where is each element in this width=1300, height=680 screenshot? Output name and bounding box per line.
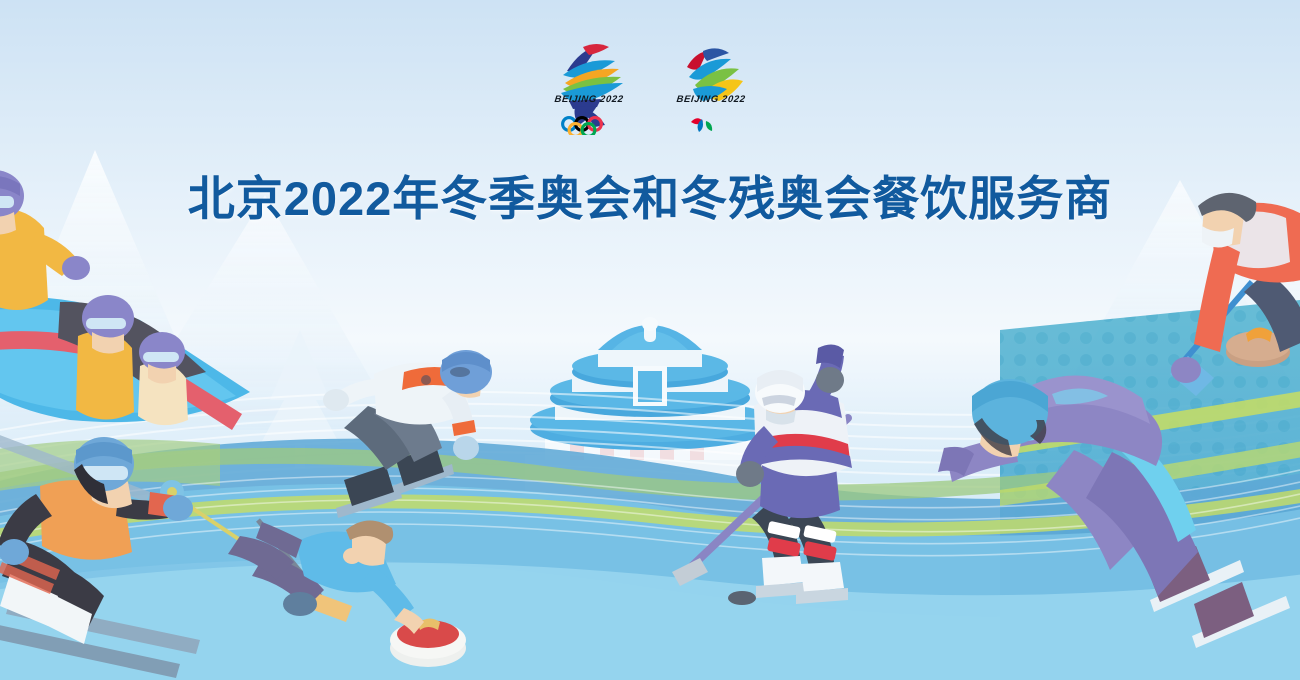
bobsleigh-athlete-middle — [76, 295, 134, 420]
olympic-wordmark: BEIJING 2022 — [538, 94, 639, 105]
olympic-banner: BEIJING 2022 BEIJING 2022 — [0, 0, 1300, 680]
title-container: 北京2022年冬季奥会和冬残奥会餐饮服务商 — [0, 141, 1300, 258]
paralympic-wordmark: BEIJING 2022 — [660, 94, 761, 105]
page-title: 北京2022年冬季奥会和冬残奥会餐饮服务商 — [188, 172, 1113, 226]
bobsleigh-athlete-front — [138, 332, 188, 425]
beijing-2022-paralympic-emblem: BEIJING 2022 — [661, 33, 761, 135]
paralympic-agitos — [691, 118, 712, 132]
athlete-curler-sliding — [228, 520, 466, 667]
beijing-2022-olympic-emblem: BEIJING 2022 — [539, 33, 639, 135]
athlete-speed-skater-white — [323, 350, 492, 518]
olympic-mark — [561, 44, 623, 127]
athlete-ice-hockey-player — [672, 344, 852, 605]
athlete-speed-skater-purple — [938, 375, 1290, 648]
emblem-group: BEIJING 2022 BEIJING 2022 — [0, 33, 1300, 135]
